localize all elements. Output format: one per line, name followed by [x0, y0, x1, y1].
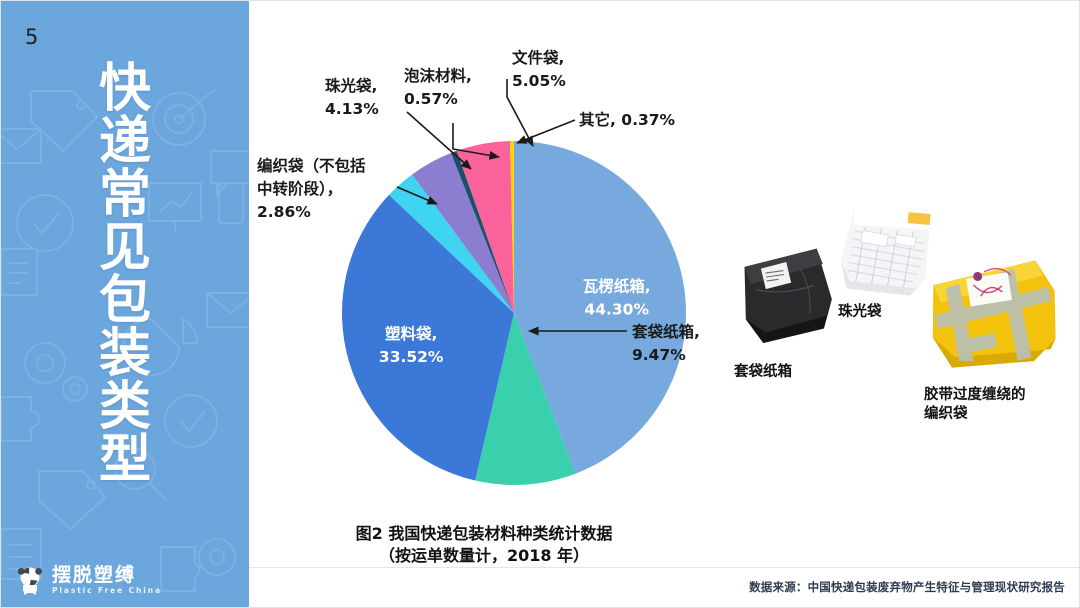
pie-slice-label: 其它, 0.37%: [579, 110, 676, 129]
brand-logo: 摆脱塑缚 Plastic Free China: [15, 565, 162, 595]
title-char-2: 常: [87, 169, 163, 222]
slide-title: 快 递 常 见 包 装 类 型: [87, 63, 163, 487]
photo-caption-taodaizhixiang: 套袋纸箱: [734, 363, 792, 382]
title-char-3: 见: [87, 222, 163, 275]
slide-canvas: 5 快 递 常 见 包 装 类 型 摆脱塑缚 Pla: [0, 0, 1080, 608]
sidebar: 5 快 递 常 见 包 装 类 型 摆脱塑缚 Pla: [1, 1, 249, 608]
title-char-7: 型: [87, 434, 163, 487]
slide-number: 5: [25, 27, 38, 48]
panda-globe-icon: [15, 565, 45, 595]
title-char-5: 装: [87, 328, 163, 381]
pie-chart-svg: 瓦楞纸箱,44.30%塑料袋,33.52%套袋纸箱,9.47%编织袋（不包括中转…: [249, 1, 719, 521]
yellow-woven-bag-photo: [919, 253, 1069, 381]
pie-slice-label: 编织袋（不包括中转阶段），2.86%: [257, 156, 366, 221]
photo-caption-bianzhidai: 胶带过度缠绕的 编织袋: [924, 386, 1026, 424]
pie-slice-label: 泡沫材料,0.57%: [404, 66, 472, 108]
figure-caption-line1: 图2 我国快递包装材料种类统计数据: [249, 523, 719, 545]
photo-panel: 套袋纸箱 珠光袋 胶带过度缠绕的 编织袋: [719, 1, 1080, 608]
figure-caption: 图2 我国快递包装材料种类统计数据 （按运单数量计，2018 年）: [249, 523, 719, 567]
photo-caption-zhuguangdai: 珠光袋: [838, 303, 882, 322]
pie-slice-label: 文件袋,5.05%: [512, 48, 566, 90]
logo-text-en: Plastic Free China: [52, 587, 162, 595]
title-char-6: 类: [87, 381, 163, 434]
title-char-1: 递: [87, 116, 163, 169]
data-source-label: 数据来源：中国快递包装废弃物产生特征与管理现状研究报告: [749, 579, 1065, 595]
pie-chart: 瓦楞纸箱,44.30%塑料袋,33.52%套袋纸箱,9.47%编织袋（不包括中转…: [249, 1, 719, 608]
title-char-4: 包: [87, 275, 163, 328]
figure-caption-line2: （按运单数量计，2018 年）: [249, 545, 719, 567]
pie-slice-label: 珠光袋,4.13%: [325, 76, 379, 118]
logo-text-cn: 摆脱塑缚: [52, 565, 162, 586]
footer-bar: 数据来源：中国快递包装废弃物产生特征与管理现状研究报告: [249, 567, 1079, 607]
title-char-0: 快: [87, 63, 163, 116]
